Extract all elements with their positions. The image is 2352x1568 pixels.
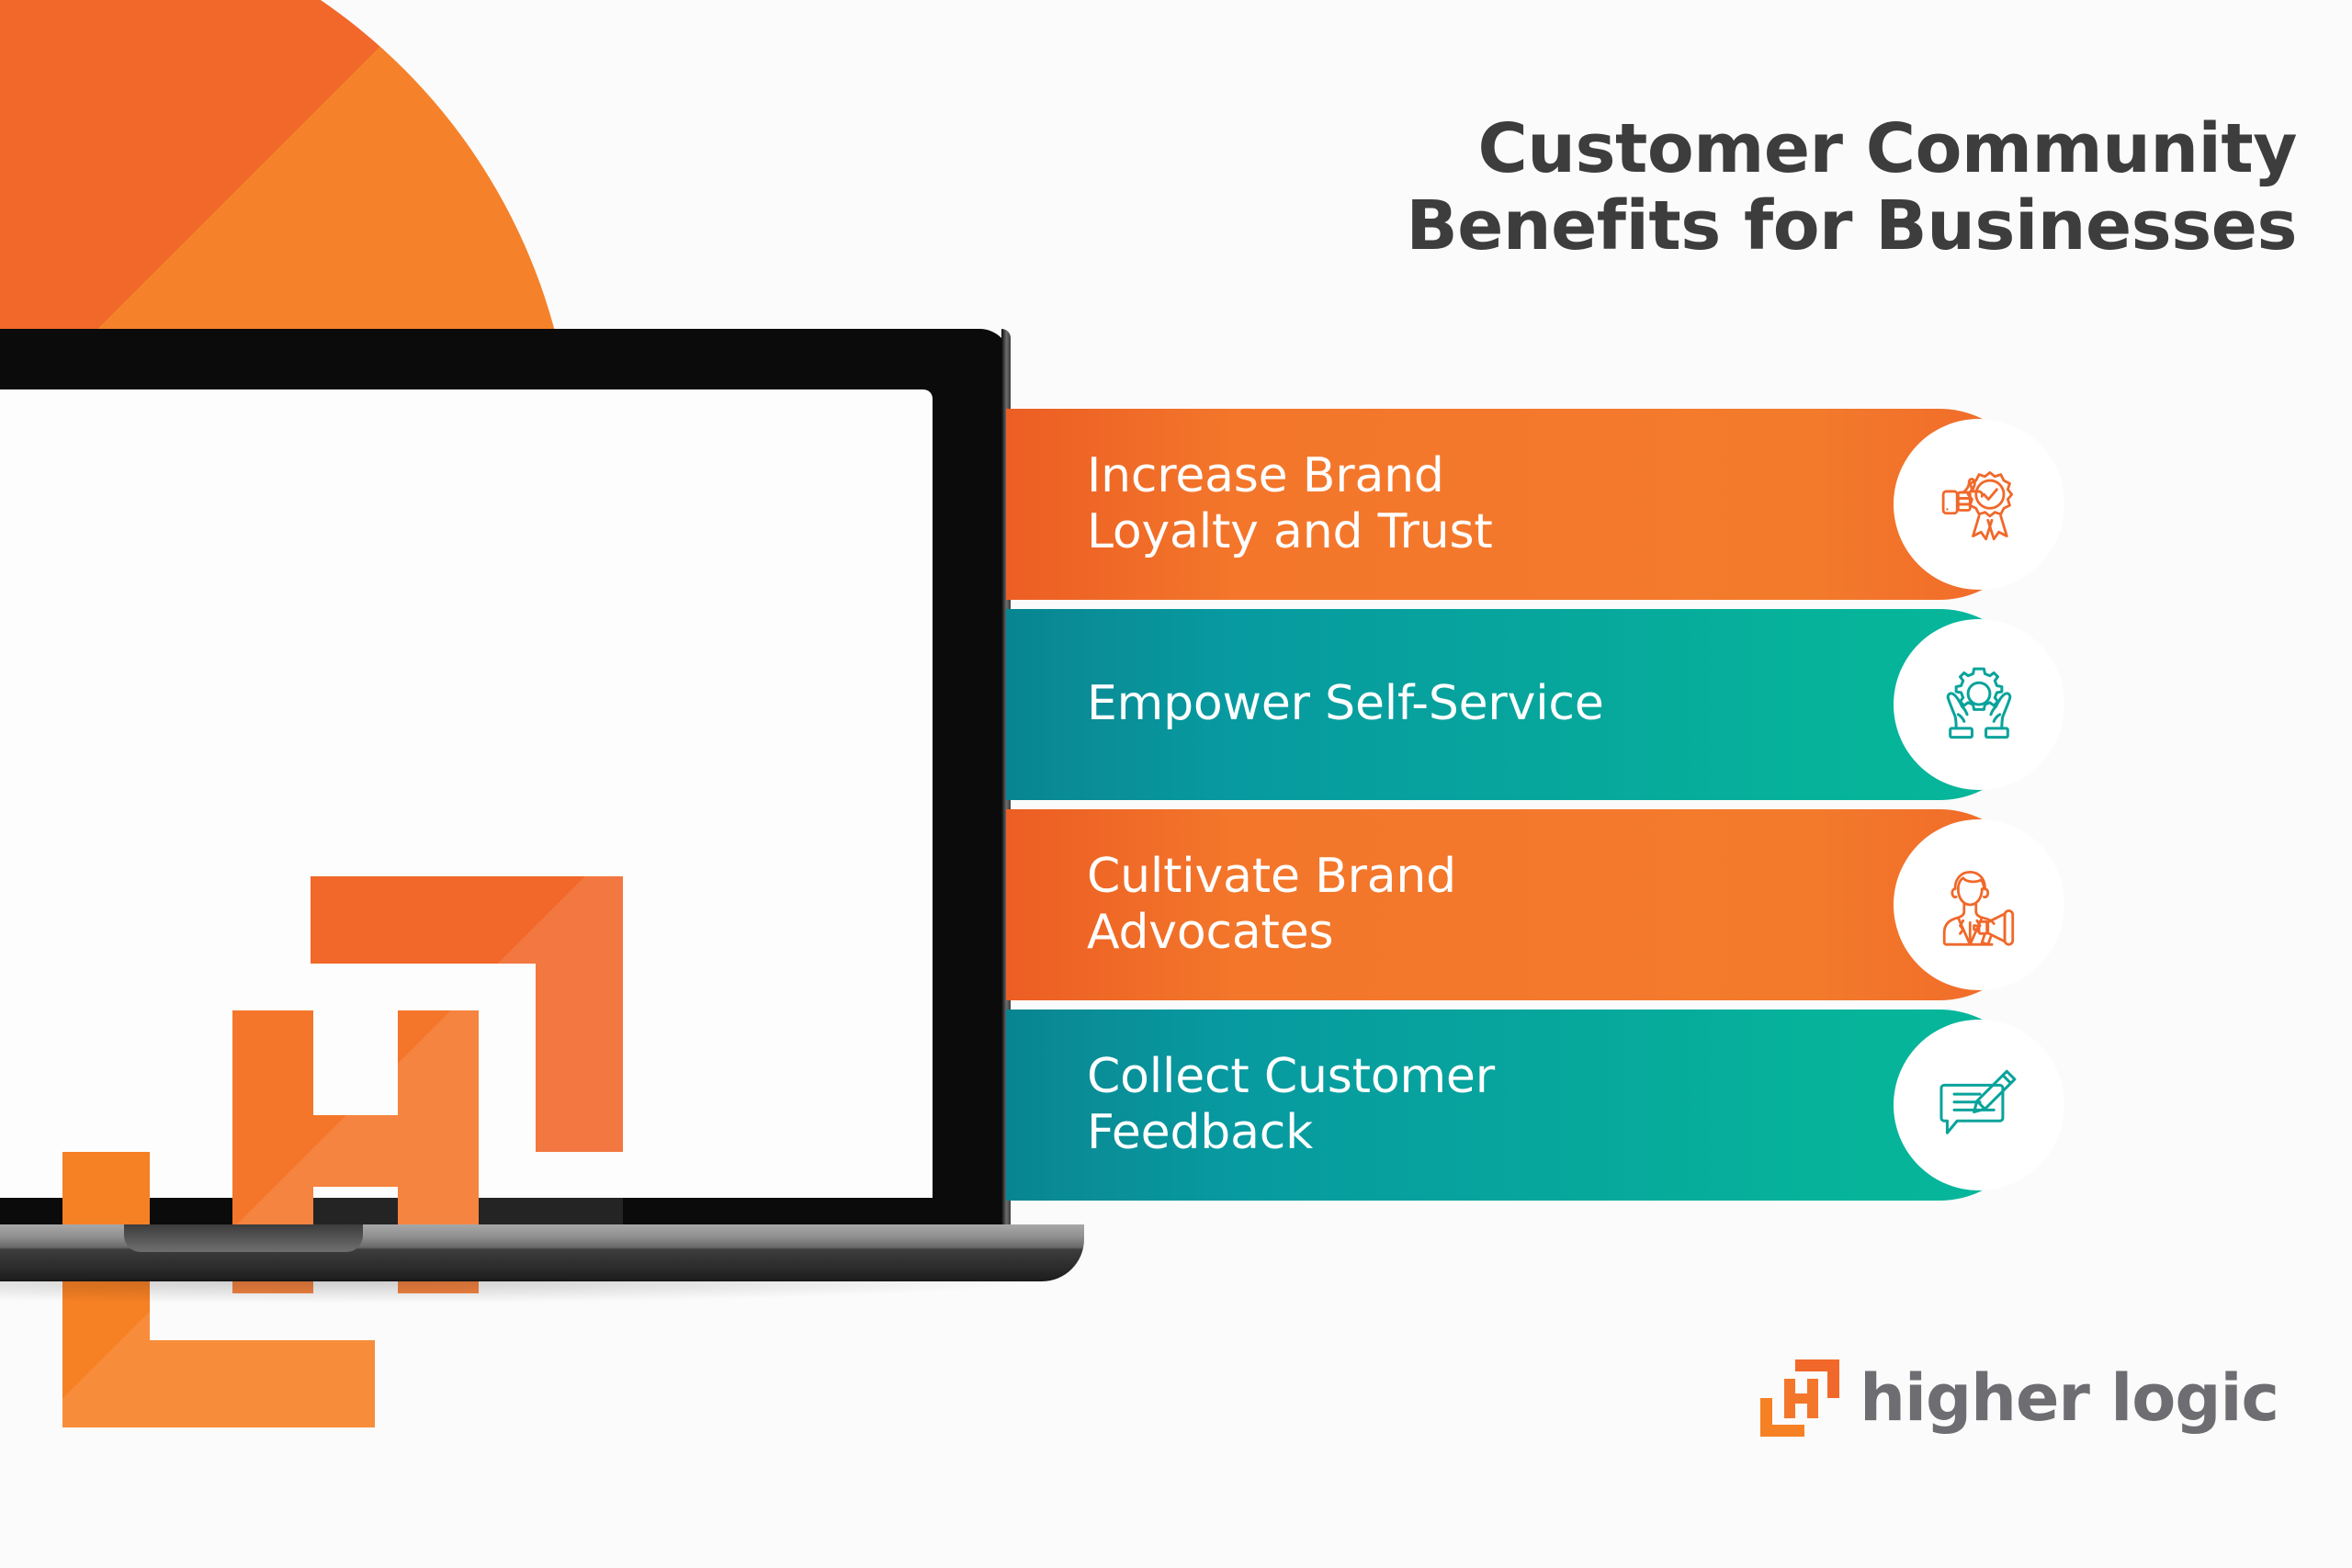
laptop-shadow <box>0 1280 1047 1303</box>
benefit-icon-circle <box>1894 619 2064 790</box>
benefit-label-line-2: Advocates <box>1087 905 1333 960</box>
higher-logic-mark-icon <box>1760 1359 1839 1437</box>
benefit-row-increase-brand-loyalty[interactable]: Increase Brand Loyalty and Trust <box>1006 409 2035 600</box>
benefit-label-line-1: Empower Self-Service <box>1087 676 1604 731</box>
footer-brand-logo: higher logic <box>1760 1359 2278 1437</box>
higher-logic-mark-icon <box>62 876 623 1427</box>
footer-logo-text: higher logic <box>1860 1360 2278 1436</box>
benefit-icon-circle <box>1894 819 2064 990</box>
title-line-1: Customer Community <box>1084 110 2297 187</box>
title-line-2: Benefits for Businesses <box>1084 187 2297 265</box>
benefit-label: Collect Customer Feedback <box>1006 1049 1495 1162</box>
benefit-label-line-2: Loyalty and Trust <box>1087 504 1493 559</box>
thumbs-up-award-badge-icon <box>1929 455 2029 554</box>
benefit-row-collect-customer-feedback[interactable]: Collect Customer Feedback <box>1006 1010 2035 1201</box>
person-with-megaphone-icon <box>1929 855 2029 954</box>
hands-holding-gear-icon <box>1929 655 2029 754</box>
benefit-label-line-1: Collect Customer <box>1087 1049 1495 1104</box>
laptop-screen <box>0 389 933 1198</box>
benefit-label: Increase Brand Loyalty and Trust <box>1006 448 1493 561</box>
benefit-label-line-2: Feedback <box>1087 1105 1313 1160</box>
benefit-row-empower-self-service[interactable]: Empower Self-Service <box>1006 609 2035 800</box>
benefit-icon-circle <box>1894 419 2064 590</box>
benefit-row-cultivate-brand-advocates[interactable]: Cultivate Brand Advocates <box>1006 809 2035 1000</box>
benefit-label: Cultivate Brand Advocates <box>1006 849 1456 962</box>
speech-bubble-pencil-icon <box>1929 1055 2029 1155</box>
benefit-label-line-1: Cultivate Brand <box>1087 849 1456 904</box>
benefit-label-line-1: Increase Brand <box>1087 448 1444 503</box>
laptop-base-notch <box>124 1224 363 1252</box>
benefits-list: Increase Brand Loyalty and Trust <box>1006 409 2035 1210</box>
benefit-label: Empower Self-Service <box>1006 676 1604 732</box>
infographic-canvas: Customer Community Benefits for Business… <box>0 0 2352 1568</box>
laptop-illustration <box>0 329 1011 1339</box>
page-title: Customer Community Benefits for Business… <box>1084 110 2297 265</box>
benefit-icon-circle <box>1894 1020 2064 1190</box>
